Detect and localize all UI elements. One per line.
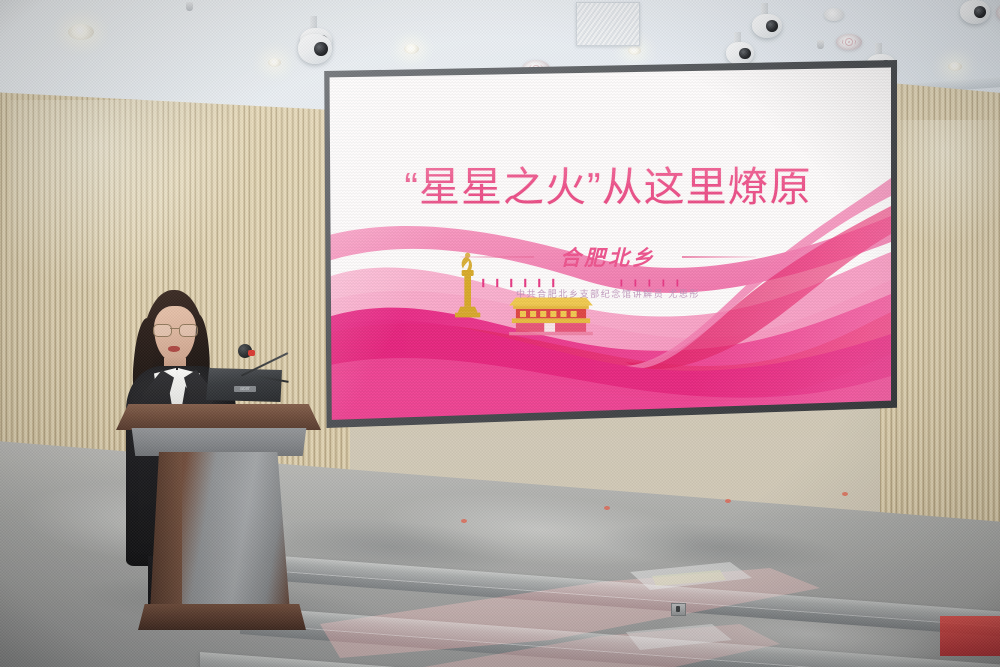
floor-marker-dot — [842, 492, 848, 496]
track-spotlight-icon — [752, 14, 782, 38]
slide-canvas: “星星之火”从这里燎原 合肥北乡 中共合肥北乡支部纪念馆讲解员 尤思彤 — [325, 66, 891, 422]
eyeglasses-icon — [152, 324, 198, 336]
microphone-indicator — [248, 350, 255, 356]
downlight-icon — [948, 62, 962, 71]
track-spotlight-icon — [726, 42, 754, 65]
subtitle-rule-right — [682, 256, 756, 258]
track-spotlight-icon — [960, 0, 990, 24]
presentation-hall-photo: “星星之火”从这里燎原 合肥北乡 中共合肥北乡支部纪念馆讲解员 尤思彤 — [0, 0, 1000, 667]
floor-power-socket — [671, 603, 686, 616]
slide-title: “星星之火”从这里燎原 — [325, 153, 891, 213]
downlight-icon — [68, 24, 94, 40]
sprinkler-icon — [817, 40, 824, 49]
floor-marker-dot — [604, 506, 610, 510]
led-screen[interactable]: “星星之火”从这里燎原 合肥北乡 中共合肥北乡支部纪念馆讲解员 尤思彤 — [325, 66, 891, 422]
floor-marker-dot — [461, 519, 467, 523]
smoke-detector-icon — [824, 8, 844, 21]
slide-subtitle: 合肥北乡 — [560, 242, 656, 272]
lectern-front-edge — [128, 428, 310, 456]
floor-marker-dot — [725, 499, 731, 503]
slat-wood-wall-right — [880, 82, 1000, 569]
hvac-vent-icon — [576, 2, 640, 46]
laptop-brand-mark: acer — [234, 386, 256, 392]
ceiling-speaker-icon — [836, 34, 862, 50]
subtitle-rule-left — [460, 256, 534, 258]
sprinkler-icon — [186, 2, 193, 11]
slide-byline: 中共合肥北乡支部纪念馆讲解员 尤思彤 — [325, 287, 891, 300]
downlight-icon — [404, 44, 419, 54]
lectern-base — [138, 604, 306, 630]
dome-camera-icon — [298, 34, 332, 64]
slide-subtitle-row: 合肥北乡 — [325, 242, 891, 272]
mouth — [168, 346, 180, 352]
downlight-icon — [268, 58, 281, 67]
lectern-top — [116, 404, 321, 430]
downlight-icon — [628, 46, 641, 55]
